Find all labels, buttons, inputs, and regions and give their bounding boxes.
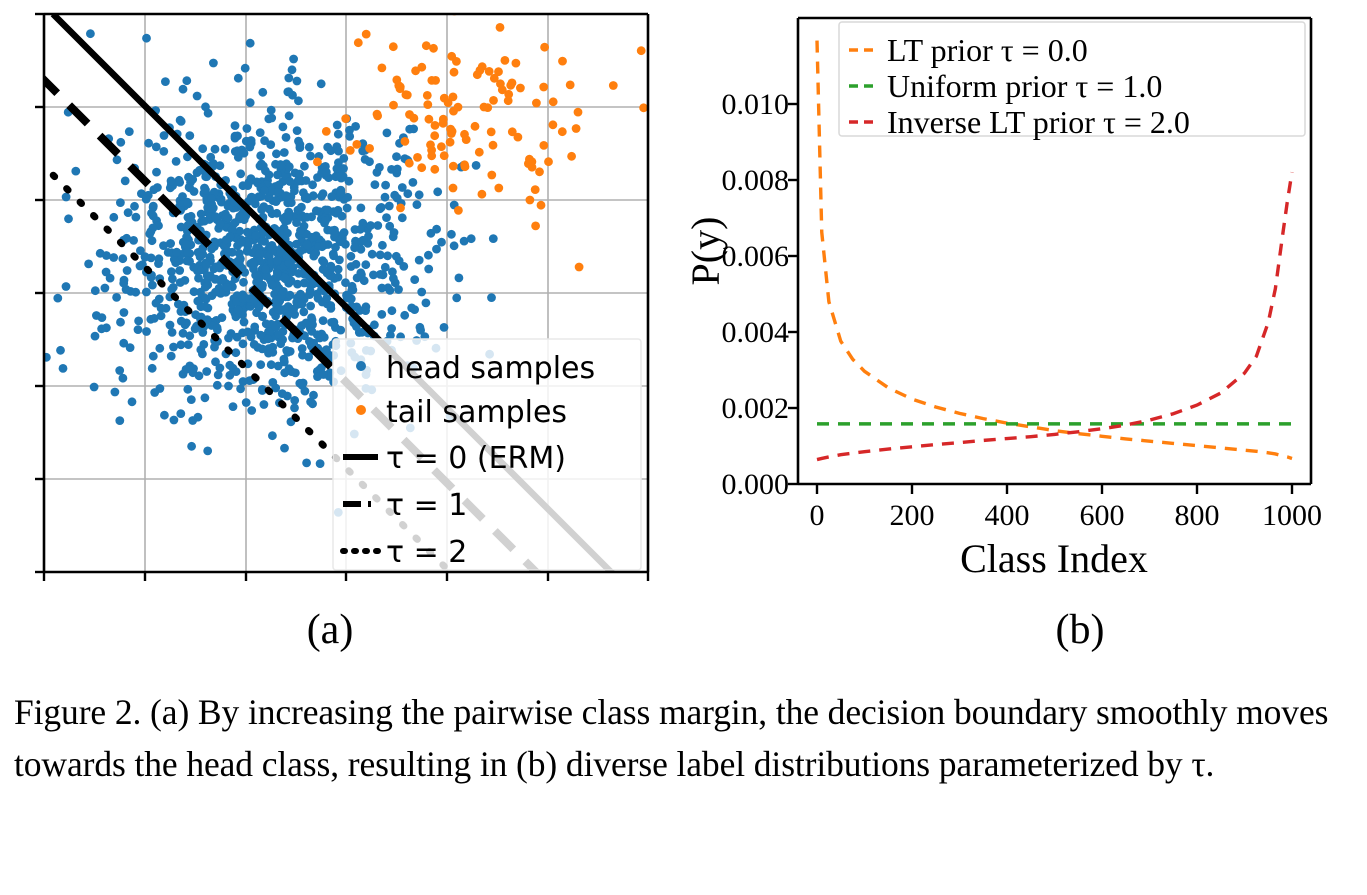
panel-a-scatter: head samples tail samples τ = 0 (ERM) τ … xyxy=(0,0,683,600)
legend-label-inverse-lt-prior: Inverse LT prior τ = 2.0 xyxy=(887,104,1190,140)
y-tick-label-4: 0.008 xyxy=(722,164,790,197)
figure-panels: head samples tail samples τ = 0 (ERM) τ … xyxy=(0,0,1367,600)
y-tick-label-5: 0.010 xyxy=(722,88,790,121)
panel-b-y-axis-label: P(y) xyxy=(683,217,728,286)
panel-b-x-axis-label: Class Index xyxy=(960,536,1148,581)
figure-caption: Figure 2. (a) By increasing the pairwise… xyxy=(14,686,1354,790)
legend-marker-head-samples xyxy=(356,361,366,371)
panel-b-line-chart: 0.000 0.002 0.004 0.006 0.008 0.010 0 20… xyxy=(683,0,1367,600)
legend-label-lt-prior: LT prior τ = 0.0 xyxy=(887,32,1088,68)
legend-label-uniform-prior: Uniform prior τ = 1.0 xyxy=(887,68,1162,104)
legend-marker-tail-samples xyxy=(356,405,366,415)
panel-a-legend[interactable]: head samples tail samples τ = 0 (ERM) τ … xyxy=(333,339,641,570)
x-tick-label-5: 1000 xyxy=(1262,499,1322,532)
subcaption-a: (a) xyxy=(180,600,480,660)
panel-b-plot: 0.000 0.002 0.004 0.006 0.008 0.010 0 20… xyxy=(683,0,1367,600)
legend-label-tail-samples: tail samples xyxy=(386,395,567,430)
x-tick-label-0: 0 xyxy=(810,499,825,532)
legend-label-tau-1: τ = 1 xyxy=(386,488,467,523)
x-tick-label-1: 200 xyxy=(890,499,935,532)
legend-label-tau-0: τ = 0 (ERM) xyxy=(386,441,566,476)
legend-label-tau-2: τ = 2 xyxy=(386,535,467,570)
y-tick-label-0: 0.000 xyxy=(722,468,790,501)
y-tick-label-3: 0.006 xyxy=(722,240,790,273)
y-tick-label-2: 0.004 xyxy=(722,316,790,349)
x-tick-label-3: 600 xyxy=(1080,499,1125,532)
subcaption-b: (b) xyxy=(930,600,1230,660)
panel-b-y-tick-labels: 0.000 0.002 0.004 0.006 0.008 0.010 xyxy=(722,88,790,501)
panel-a-plot: head samples tail samples τ = 0 (ERM) τ … xyxy=(0,0,683,600)
x-tick-label-2: 400 xyxy=(985,499,1030,532)
x-tick-label-4: 800 xyxy=(1175,499,1220,532)
y-tick-label-1: 0.002 xyxy=(722,392,790,425)
panel-b-legend[interactable]: LT prior τ = 0.0 Uniform prior τ = 1.0 I… xyxy=(839,22,1305,140)
figure-2: head samples tail samples τ = 0 (ERM) τ … xyxy=(0,0,1367,895)
legend-label-head-samples: head samples xyxy=(386,351,595,386)
panel-b-x-tick-labels: 0 200 400 600 800 1000 xyxy=(810,499,1323,532)
